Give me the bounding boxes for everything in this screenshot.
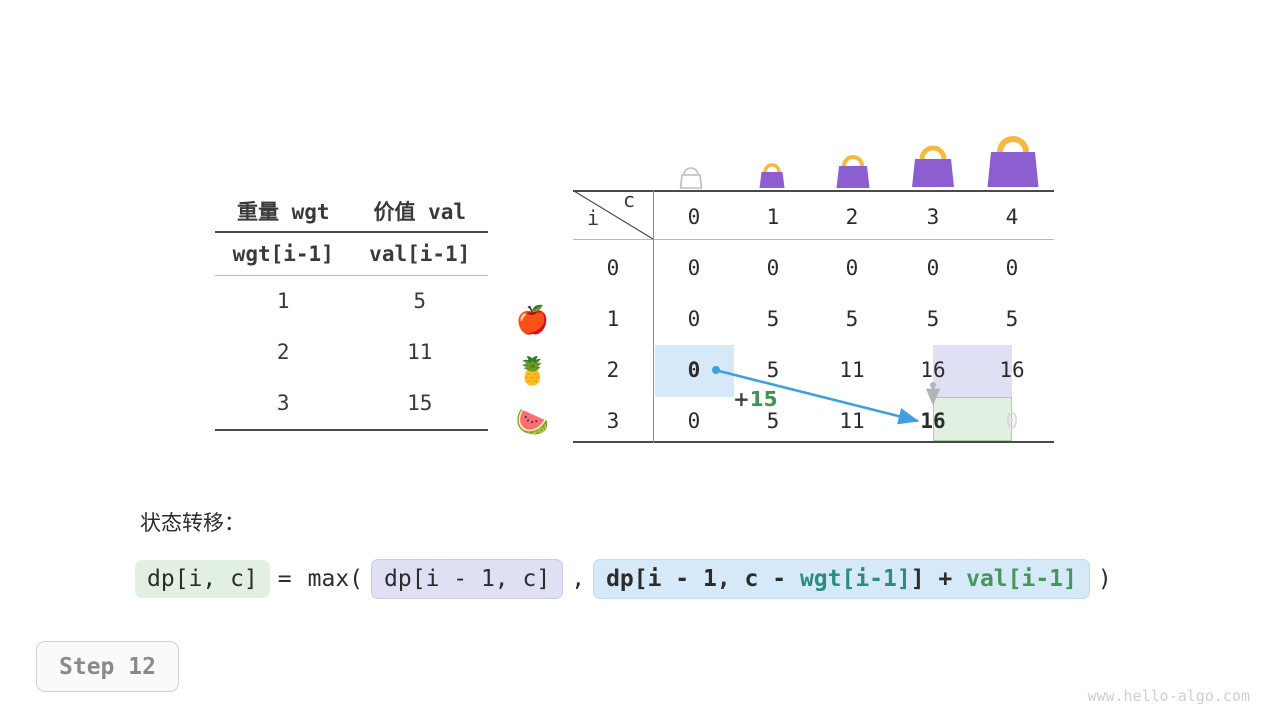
subheader-wgt-index: wgt[i-1] <box>215 233 352 275</box>
dp-cell-1-2: 5 <box>822 306 882 332</box>
formula-arg2-wgt: wgt[i-1] <box>800 566 911 592</box>
dp-cell-0-1: 0 <box>743 255 803 281</box>
cell-val-1: 5 <box>352 276 489 327</box>
dp-cell-0-0: 0 <box>664 255 724 281</box>
dp-cell-2-1: 5 <box>743 357 803 383</box>
axis-label-i: i <box>587 206 599 230</box>
bag-2-icon <box>831 152 875 190</box>
formula-close-paren: ) <box>1090 566 1120 592</box>
formula-max-open: max( <box>300 566 371 592</box>
dp-col-header-4: 4 <box>982 204 1042 230</box>
dp-cell-3-0: 0 <box>664 408 724 434</box>
slide-canvas: 重量 wgt 价值 val wgt[i-1] val[i-1] 1 5 2 11… <box>0 0 1280 720</box>
table-row: 3 15 <box>215 378 488 429</box>
dp-cell-1-3: 5 <box>903 306 963 332</box>
dp-col-header-0: 0 <box>664 204 724 230</box>
plus-sign: + <box>733 387 750 411</box>
formula-arg2: dp[i - 1, c - wgt[i-1]] + val[i-1] <box>593 559 1090 599</box>
formula-arg2-val: val[i-1] <box>966 566 1077 592</box>
dp-row-header-3: 3 <box>583 408 643 434</box>
step-badge: Step 12 <box>36 641 179 692</box>
formula-equals: = <box>270 566 300 592</box>
bag-1-icon <box>755 160 789 190</box>
dp-cell-1-0: 0 <box>664 306 724 332</box>
header-weight: 重量 wgt <box>215 193 352 231</box>
bag-3-icon <box>905 142 961 190</box>
cell-val-3: 15 <box>352 378 489 429</box>
cell-val-2: 11 <box>352 327 489 378</box>
left-table-subheader-row: wgt[i-1] val[i-1] <box>215 233 488 275</box>
transition-label: 状态转移： <box>140 507 245 537</box>
left-table-header-row: 重量 wgt 价值 val <box>215 193 488 231</box>
dp-col-header-2: 2 <box>822 204 882 230</box>
dp-row-header-2: 2 <box>583 357 643 383</box>
cell-wgt-2: 2 <box>215 327 352 378</box>
table-row: 2 11 <box>215 327 488 378</box>
dp-cell-1-4: 5 <box>982 306 1042 332</box>
cell-wgt-1: 1 <box>215 276 352 327</box>
item-icon-column: 🍎 🍍 🍉 <box>505 295 560 448</box>
cell-wgt-3: 3 <box>215 378 352 429</box>
dp-cell-0-2: 0 <box>822 255 882 281</box>
dp-row-header-1: 1 <box>583 306 643 332</box>
formula-arg2-pre: dp[i - 1, c - <box>606 566 800 592</box>
dp-col-header-1: 1 <box>743 204 803 230</box>
watermelon-icon: 🍉 <box>505 397 560 448</box>
dp-cell-1-1: 5 <box>743 306 803 332</box>
bag-4-icon <box>979 132 1047 190</box>
dp-cell-3-2: 11 <box>822 408 882 434</box>
dp-cell-0-3: 0 <box>903 255 963 281</box>
formula-arg1: dp[i - 1, c] <box>371 559 563 599</box>
dp-cell-3-4: 0 <box>982 408 1042 434</box>
watermark: www.hello-algo.com <box>1087 687 1250 705</box>
dp-cell-2-3: 16 <box>903 357 963 383</box>
step-badge-label: Step 12 <box>59 654 156 680</box>
gain-annotation: +15 <box>733 387 778 411</box>
formula-arg2-mid: ] + <box>911 566 966 592</box>
bag-0-icon <box>677 166 705 190</box>
dp-bottom-border <box>573 441 1054 443</box>
header-value: 价值 val <box>352 193 489 231</box>
formula-comma: , <box>563 566 593 592</box>
transition-formula: dp[i, c] = max( dp[i - 1, c] , dp[i - 1,… <box>135 559 1120 599</box>
corner-diagonal-icon <box>573 190 654 240</box>
dp-cell-2-2: 11 <box>822 357 882 383</box>
axis-label-c: c <box>623 188 635 212</box>
dp-cell-2-4: 16 <box>982 357 1042 383</box>
left-table-rule-bottom <box>215 429 488 431</box>
formula-lhs: dp[i, c] <box>135 560 270 598</box>
subheader-val-index: val[i-1] <box>352 233 489 275</box>
plus-value: 15 <box>750 387 778 411</box>
bag-capacity-icons <box>573 120 1054 190</box>
apple-icon: 🍎 <box>505 295 560 346</box>
pineapple-icon: 🍍 <box>505 346 560 397</box>
dp-col-header-3: 3 <box>903 204 963 230</box>
table-row: 1 5 <box>215 276 488 327</box>
dp-row-header-0: 0 <box>583 255 643 281</box>
dp-cell-3-3: 16 <box>903 408 963 434</box>
weight-value-table: 重量 wgt 价值 val wgt[i-1] val[i-1] 1 5 2 11… <box>215 193 488 431</box>
dp-cell-3-1: 5 <box>743 408 803 434</box>
dp-cell-2-0: 0 <box>664 357 724 383</box>
dp-table: i c 0 1 2 3 4 0 1 2 3 0 0 0 0 0 0 5 5 5 … <box>573 190 1054 443</box>
dp-cell-0-4: 0 <box>982 255 1042 281</box>
